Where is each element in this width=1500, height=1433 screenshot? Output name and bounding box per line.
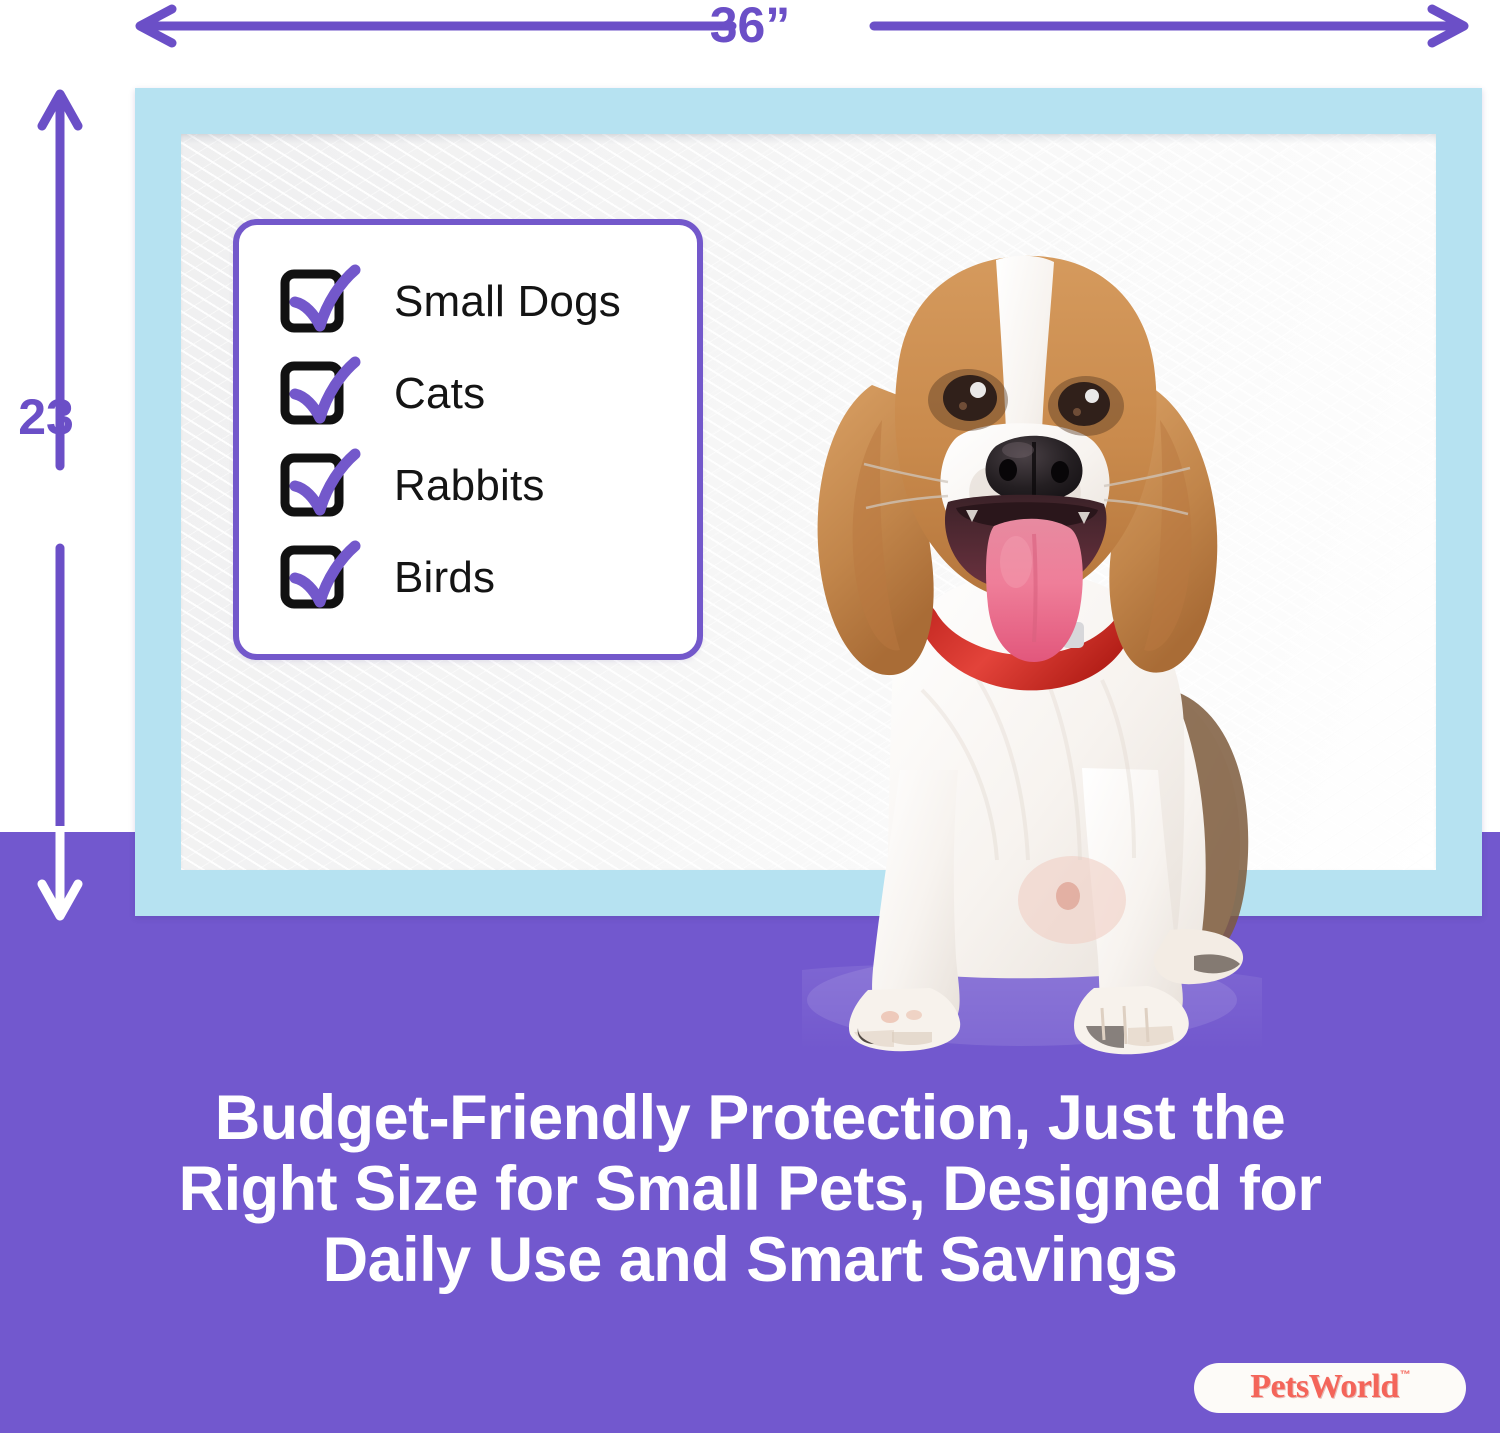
checkbox-checked-icon[interactable] [284, 457, 346, 515]
dog-photo [742, 170, 1302, 1070]
height-dimension-arrow-tip [28, 826, 92, 922]
trademark-symbol: ™ [1400, 1369, 1411, 1381]
list-item[interactable]: Birds [284, 532, 697, 624]
list-item-label: Small Dogs [394, 280, 621, 324]
pad-inner-shadow [181, 134, 1436, 144]
checkbox-checked-icon[interactable] [284, 273, 346, 331]
width-dimension-label: 36” [0, 0, 1500, 54]
headline-line-2: Right Size for Small Pets, Designed for [0, 1154, 1500, 1225]
list-item[interactable]: Cats [284, 348, 697, 440]
checkbox-checked-icon[interactable] [284, 365, 346, 423]
list-item[interactable]: Small Dogs [284, 256, 697, 348]
list-item-label: Rabbits [394, 464, 545, 508]
height-dimension-label: 23 [0, 388, 92, 446]
height-dimension-arrow [28, 86, 92, 918]
headline-line-1: Budget-Friendly Protection, Just the [0, 1083, 1500, 1154]
list-item-label: Cats [394, 372, 485, 416]
headline: Budget-Friendly Protection, Just the Rig… [0, 1083, 1500, 1297]
product-infographic: Small Dogs Cats Rabbits [0, 0, 1500, 1433]
brand-name: PetsWorld [1250, 1370, 1398, 1404]
checkbox-checked-icon[interactable] [284, 549, 346, 607]
list-item-label: Birds [394, 556, 495, 600]
headline-line-3: Daily Use and Smart Savings [0, 1225, 1500, 1296]
list-item[interactable]: Rabbits [284, 440, 697, 532]
suitable-pets-checklist: Small Dogs Cats Rabbits [233, 219, 703, 660]
brand-logo: PetsWorld™ [1194, 1363, 1466, 1413]
